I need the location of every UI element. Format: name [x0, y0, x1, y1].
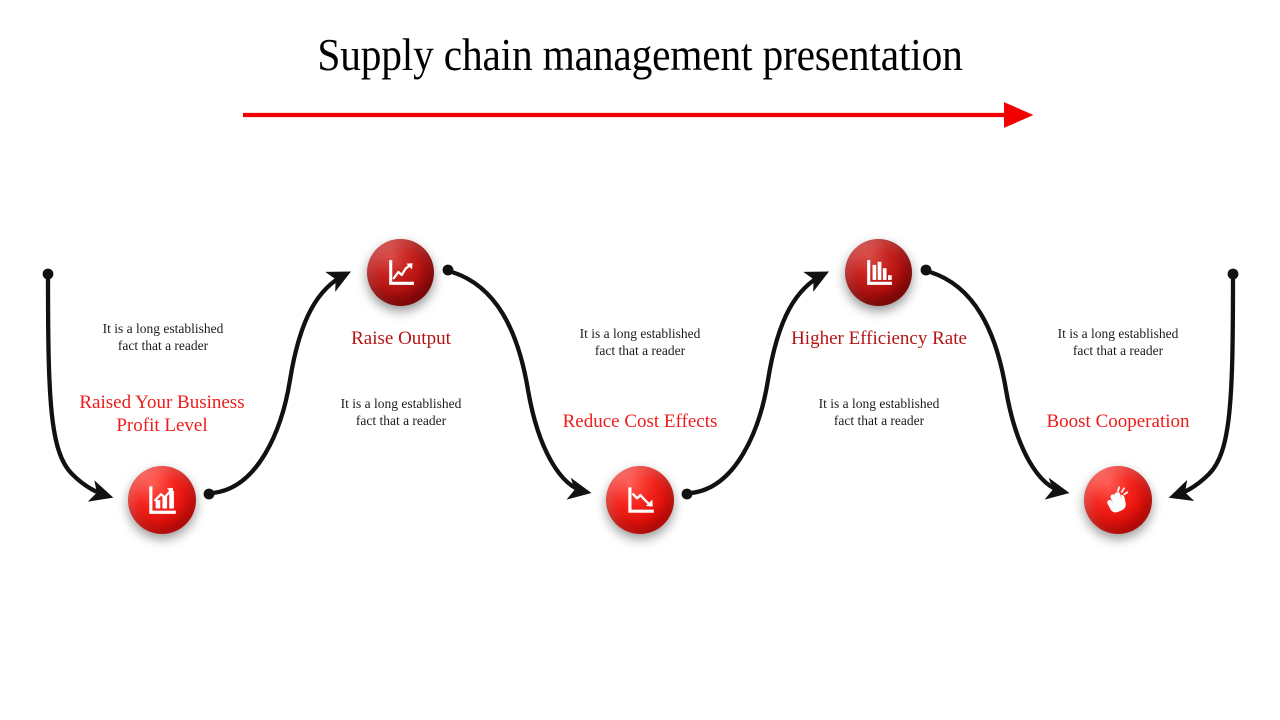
connector-start-dot-5	[921, 265, 932, 276]
step-description-5: It is a long established fact that a rea…	[1012, 326, 1224, 360]
bar-chart-descending-icon	[862, 256, 895, 289]
connector-path-3	[452, 272, 586, 492]
connector-path-4	[691, 274, 824, 493]
step-label-2: Raise Output	[301, 327, 501, 350]
step-label-5: Boost Cooperation	[1018, 410, 1218, 433]
step-node-3[interactable]	[606, 466, 674, 534]
step-node-5[interactable]	[1084, 466, 1152, 534]
step-node-4[interactable]	[845, 239, 912, 306]
connector-start-dot-6	[1228, 269, 1239, 280]
presentation-slide: Supply chain management presentation	[0, 0, 1280, 720]
page-title: Supply chain management presentation	[51, 28, 1229, 82]
line-chart-up-icon	[384, 256, 417, 289]
connector-path-2	[213, 274, 346, 493]
connector-path-5	[930, 272, 1064, 492]
connector-path-6	[1174, 276, 1233, 496]
step-node-1[interactable]	[128, 466, 196, 534]
step-label-1: Raised Your BusinessProfit Level	[52, 391, 272, 437]
step-label-3: Reduce Cost Effects	[540, 410, 740, 433]
line-chart-down-icon	[623, 483, 657, 517]
step-description-4: It is a long established fact that a rea…	[773, 396, 985, 430]
step-description-3: It is a long established fact that a rea…	[534, 326, 746, 360]
step-node-2[interactable]	[367, 239, 434, 306]
clapping-hands-icon	[1102, 484, 1135, 517]
connector-start-dot-1	[43, 269, 54, 280]
connector-path-1	[48, 276, 108, 496]
connector-start-dot-4	[682, 489, 693, 500]
connector-start-dot-2	[204, 489, 215, 500]
step-label-4: Higher Efficiency Rate	[779, 327, 979, 350]
connector-layer	[0, 0, 1280, 720]
step-description-1: It is a long established fact that a rea…	[57, 321, 269, 355]
bar-chart-growth-icon	[145, 483, 179, 517]
step-description-2: It is a long established fact that a rea…	[295, 396, 507, 430]
connector-start-dot-3	[443, 265, 454, 276]
